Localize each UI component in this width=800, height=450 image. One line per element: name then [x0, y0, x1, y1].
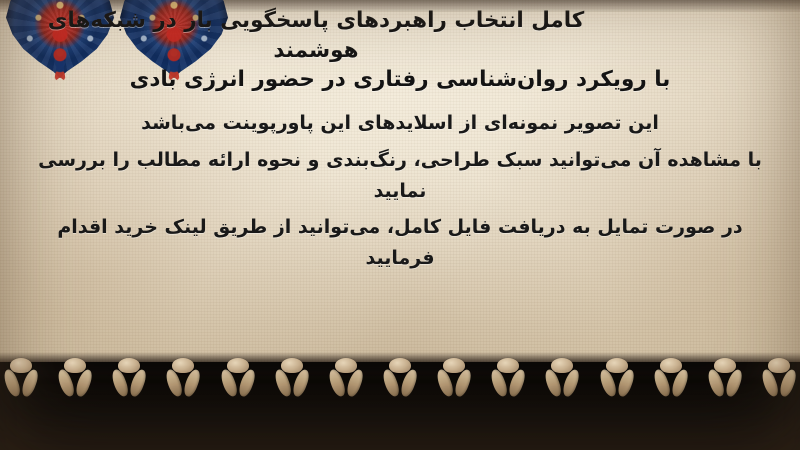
- slide-canvas: کامل انتخاب راهبردهای پاسخگویی بار در شب…: [0, 0, 800, 450]
- vignette-overlay: [0, 0, 800, 450]
